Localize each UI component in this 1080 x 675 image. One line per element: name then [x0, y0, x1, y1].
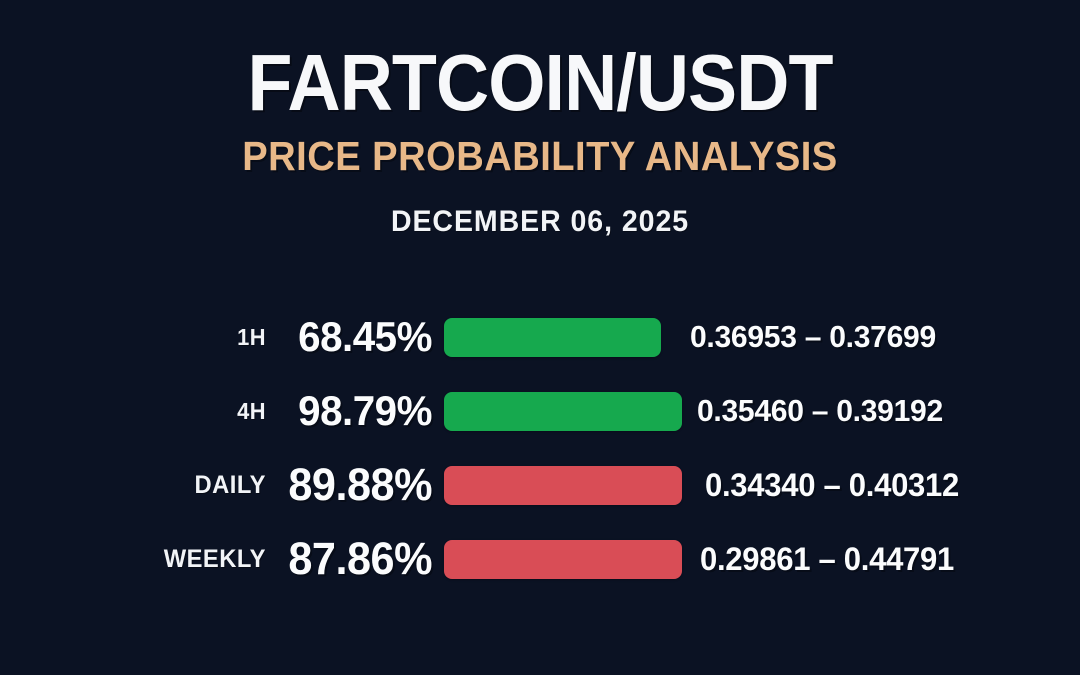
page-subtitle: PRICE PROBABILITY ANALYSIS: [38, 120, 1042, 177]
probability-bar-fill-weekly: [444, 540, 682, 579]
probability-percent-4h: 98.79%: [144, 387, 432, 435]
price-range-weekly: 0.29861 – 0.44791: [700, 541, 954, 578]
price-probability-poster: FARTCOIN/USDT PRICE PROBABILITY ANALYSIS…: [0, 0, 1080, 675]
probability-percent-daily: 89.88%: [144, 459, 432, 511]
probability-rows: 1H 68.45% 0.36953 – 0.37699 4H 98.79% 0.…: [0, 300, 1080, 596]
probability-bar-track-daily: [444, 466, 682, 505]
probability-percent-weekly: 87.86%: [144, 533, 432, 585]
price-range-4h: 0.35460 – 0.39192: [697, 393, 943, 429]
price-range-1h: 0.36953 – 0.37699: [690, 319, 936, 355]
probability-percent-1h: 68.45%: [144, 313, 432, 361]
table-row: 4H 98.79% 0.35460 – 0.39192: [0, 374, 1080, 448]
poster-header: FARTCOIN/USDT PRICE PROBABILITY ANALYSIS…: [0, 0, 1080, 237]
probability-bar-fill-daily: [444, 466, 682, 505]
table-row: DAILY 89.88% 0.34340 – 0.40312: [0, 448, 1080, 522]
probability-bar-track-weekly: [444, 540, 682, 579]
probability-bar-fill-4h: [444, 392, 682, 431]
table-row: 1H 68.45% 0.36953 – 0.37699: [0, 300, 1080, 374]
report-date: DECEMBER 06, 2025: [27, 177, 1053, 237]
price-range-daily: 0.34340 – 0.40312: [705, 467, 959, 504]
table-row: WEEKLY 87.86% 0.29861 – 0.44791: [0, 522, 1080, 596]
probability-bar-fill-1h: [444, 318, 661, 357]
probability-bar-track-1h: [444, 318, 661, 357]
probability-bar-track-4h: [444, 392, 682, 431]
page-title: FARTCOIN/USDT: [43, 0, 1037, 120]
